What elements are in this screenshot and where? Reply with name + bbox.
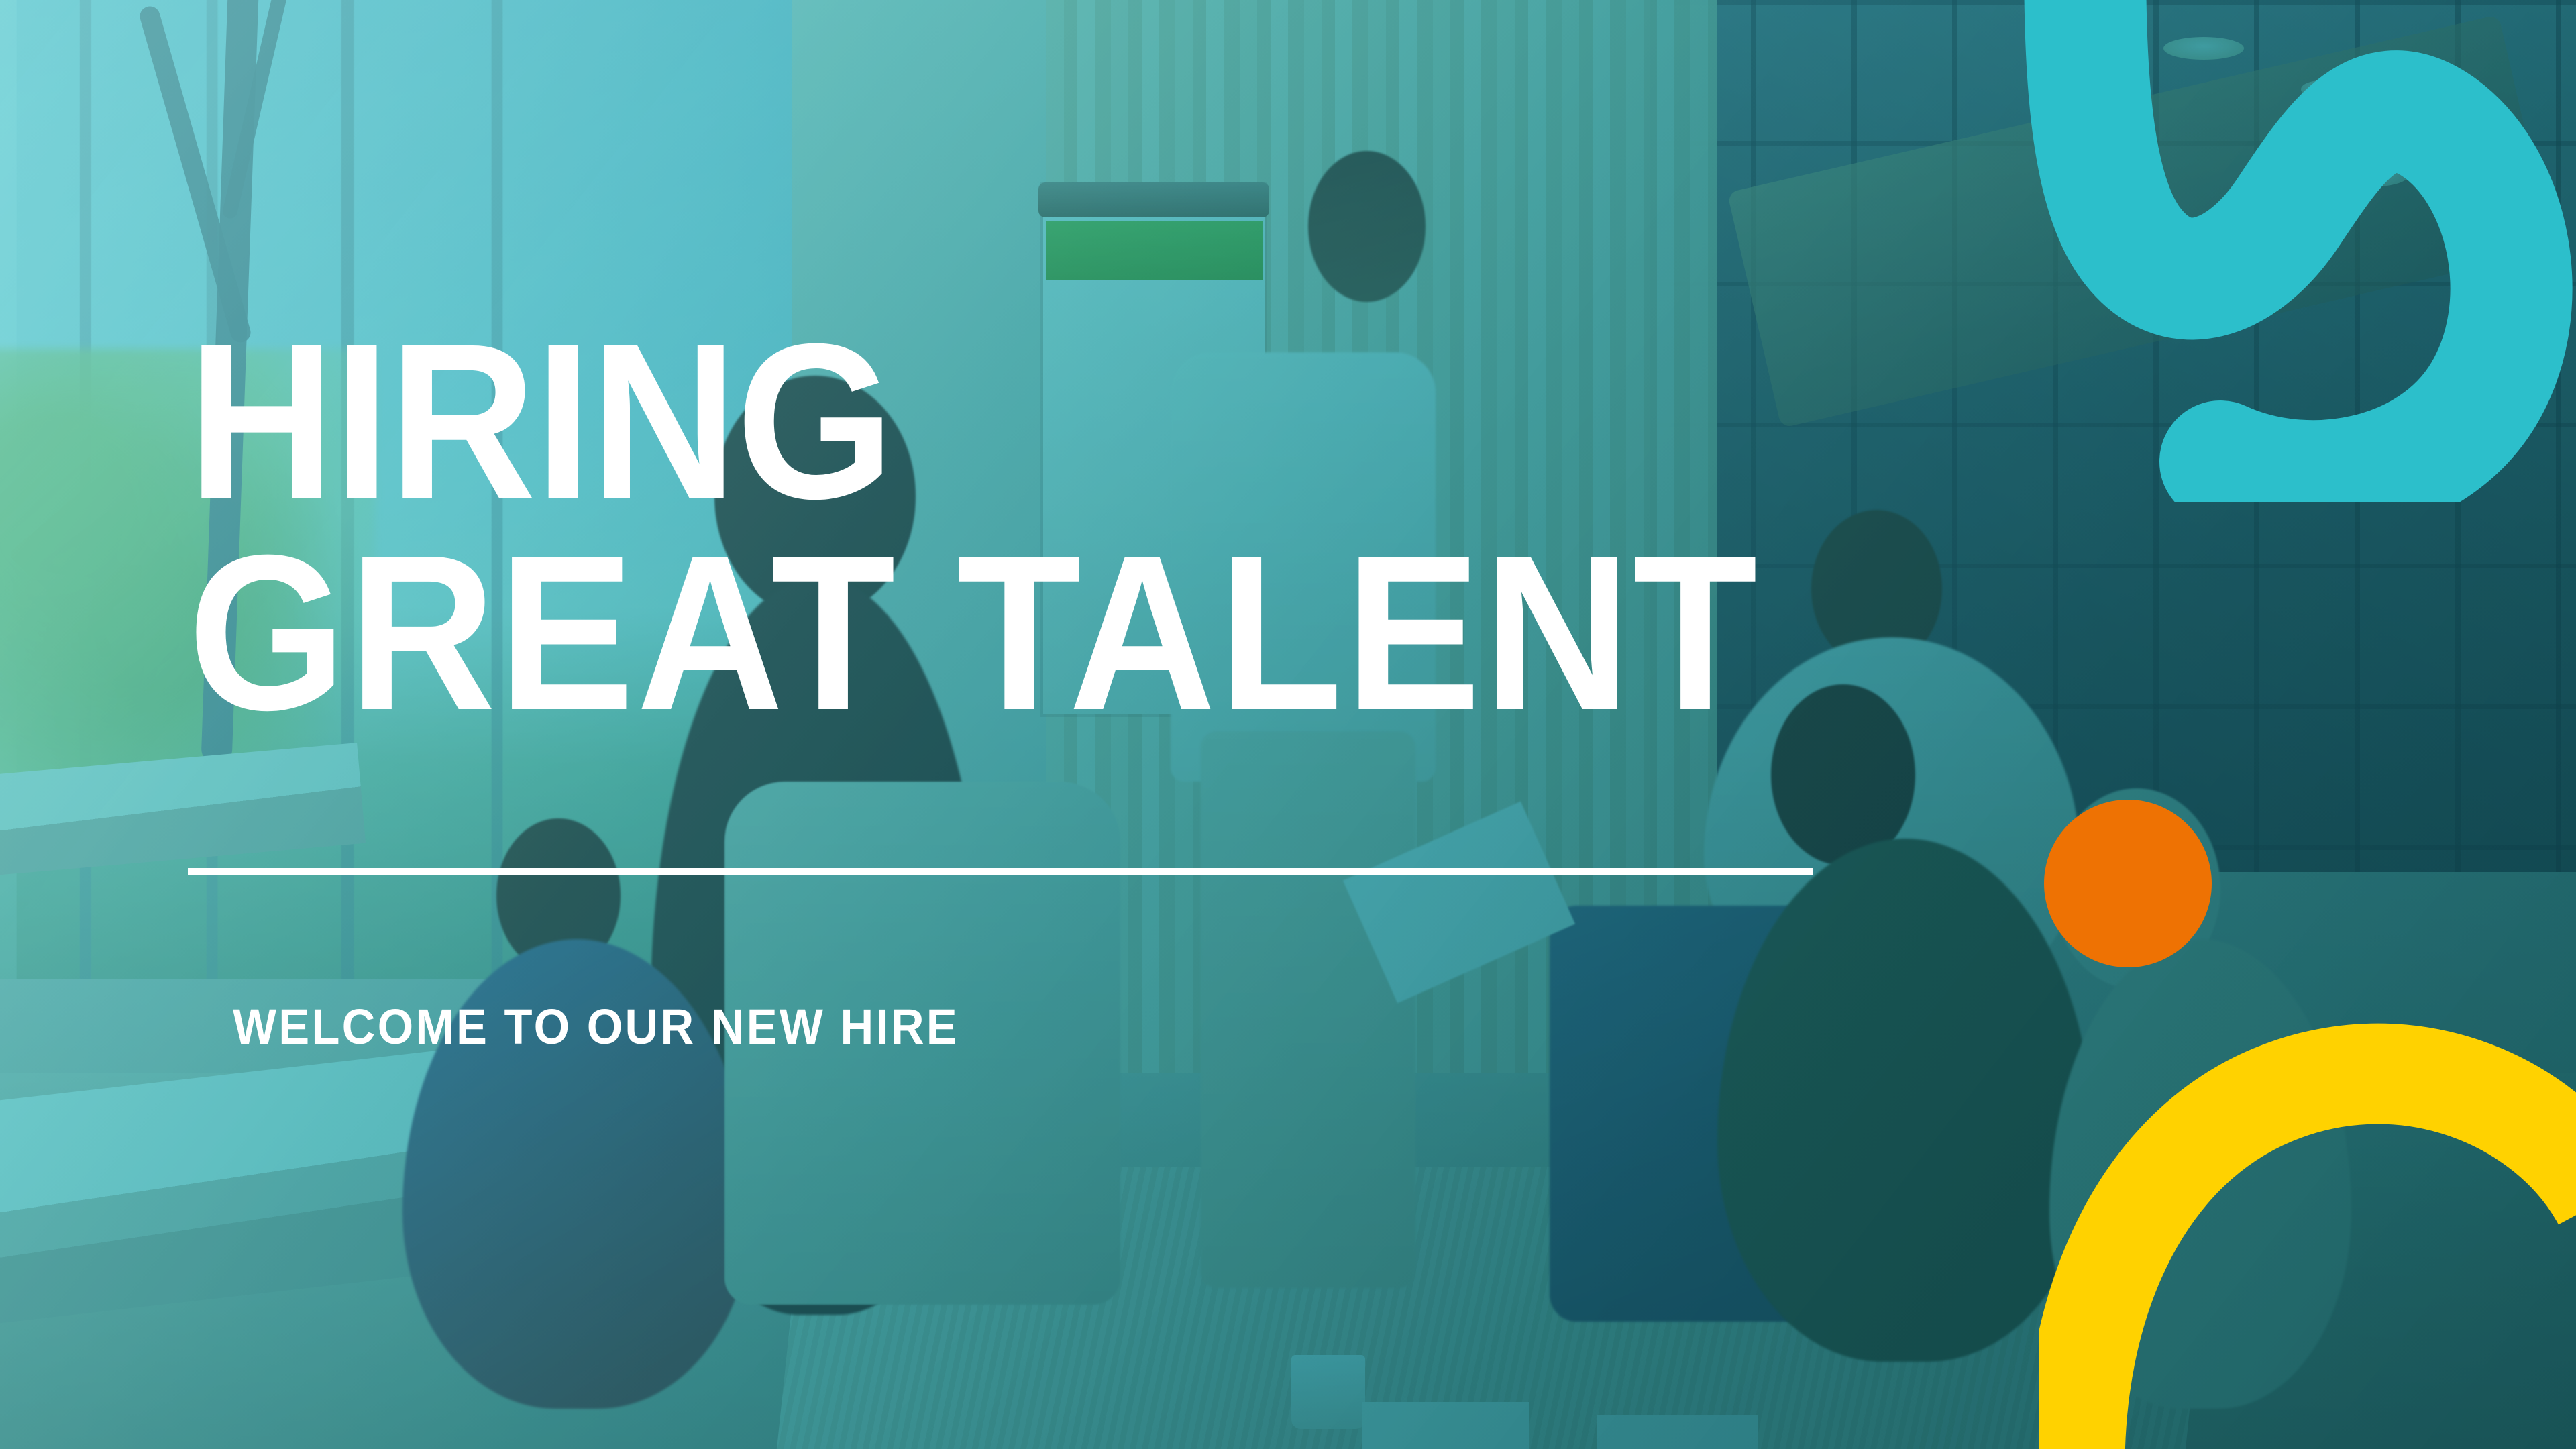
headline-block: HIRING GREAT TALENT: [188, 315, 1932, 738]
hiring-banner: HIRING GREAT TALENT WELCOME TO OUR NEW H…: [0, 0, 2576, 1449]
headline-line-2: GREAT TALENT: [188, 527, 1792, 738]
teal-wave-squiggle-icon: [1932, 0, 2576, 502]
orange-dot-icon: [2044, 800, 2212, 967]
headline-line-1: HIRING: [188, 315, 1792, 527]
yellow-arc-ring-icon: [2039, 1000, 2576, 1449]
divider: [188, 868, 1813, 875]
page-title: HIRING GREAT TALENT: [188, 315, 1792, 738]
subtitle: WELCOME TO OUR NEW HIRE: [233, 1002, 959, 1052]
